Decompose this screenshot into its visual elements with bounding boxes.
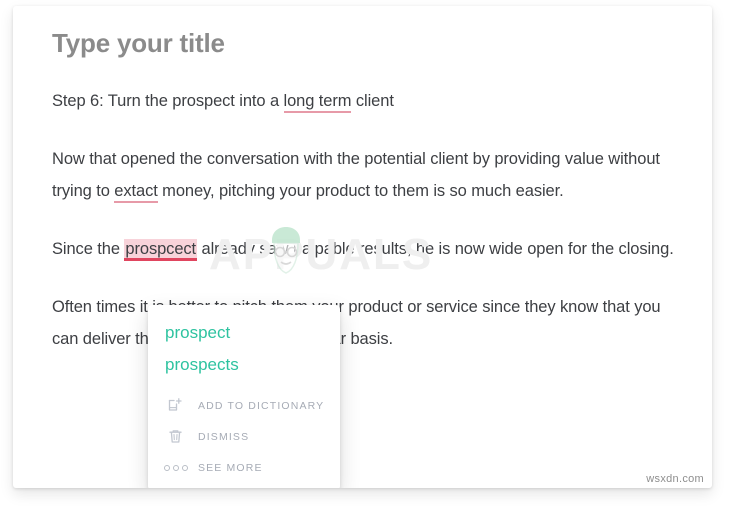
paragraph-3[interactable]: Since the prospcect already saw palpable… [52, 233, 676, 265]
paragraph-3-text-after: already saw palpable results, he is now … [197, 240, 674, 258]
paragraph-2-text-after: money, pitching your product to them is … [158, 182, 564, 200]
page-title[interactable]: Type your title [52, 28, 676, 59]
spellcheck-suggestion-popup[interactable]: prospect prospects ADD TO DICTIONARY [148, 305, 340, 488]
paragraph-1-text-before: Step 6: Turn the prospect into a [52, 92, 284, 110]
corner-watermark: wsxdn.com [646, 473, 704, 485]
dismiss-button[interactable]: DISMISS [148, 421, 340, 452]
paragraph-2[interactable]: Now that opened the conversation with th… [52, 143, 676, 207]
see-more-button[interactable]: SEE MORE [148, 452, 340, 483]
add-to-dictionary-label: ADD TO DICTIONARY [198, 400, 324, 412]
add-to-dictionary-button[interactable]: ADD TO DICTIONARY [148, 390, 340, 421]
grammar-error-extact[interactable]: extact [114, 182, 157, 203]
paragraph-1-text-after: client [351, 92, 393, 110]
dismiss-label: DISMISS [198, 431, 249, 443]
ellipsis-icon [166, 458, 185, 477]
spelling-error-prospcect[interactable]: prospcect [124, 239, 197, 261]
paragraph-4-text: Often times it is better to pitch them y… [52, 298, 661, 348]
add-to-dictionary-icon [166, 396, 185, 415]
paragraph-3-text-before: Since the [52, 240, 124, 258]
document-editor-card: Type your title Step 6: Turn the prospec… [13, 6, 712, 488]
see-more-label: SEE MORE [198, 462, 263, 474]
document-body[interactable]: Type your title Step 6: Turn the prospec… [13, 6, 712, 488]
trash-icon [166, 427, 185, 446]
popup-actions-group: ADD TO DICTIONARY DISMISS SEE MOR [148, 390, 340, 483]
grammar-error-long-term[interactable]: long term [284, 92, 352, 113]
suggestion-item-prospects[interactable]: prospects [148, 349, 340, 381]
paragraph-4[interactable]: Often times it is better to pitch them y… [52, 291, 676, 355]
paragraph-1[interactable]: Step 6: Turn the prospect into a long te… [52, 85, 676, 117]
suggestion-item-prospect[interactable]: prospect [148, 317, 340, 349]
